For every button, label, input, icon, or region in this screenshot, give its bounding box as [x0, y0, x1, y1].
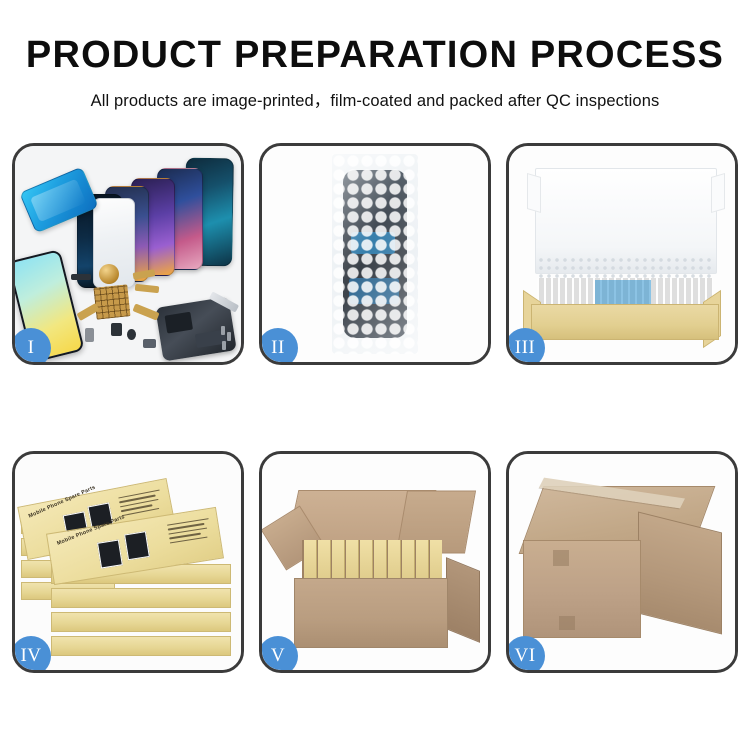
step-badge-1: I — [12, 328, 51, 365]
step-badge-6: VI — [506, 636, 545, 673]
speaker-coil-part — [99, 264, 119, 284]
step-badge-2: II — [259, 328, 298, 365]
page-title: PRODUCT PREPARATION PROCESS — [0, 0, 750, 76]
flex-cable-part — [132, 303, 159, 320]
box-front-panel — [531, 304, 719, 340]
header: PRODUCT PREPARATION PROCESS All products… — [0, 0, 750, 111]
small-component-part — [143, 339, 156, 348]
small-component-part — [71, 274, 91, 280]
stacked-box-edge — [51, 612, 231, 632]
carton-side-panel — [446, 557, 480, 643]
carton-side-panel — [638, 512, 722, 635]
bubble-wrap-sleeve — [332, 154, 418, 354]
process-step-grid: I II III — [12, 143, 738, 673]
step-1-image-products — [15, 146, 241, 362]
process-step-panel-1: I — [12, 143, 244, 365]
flex-cable-part — [135, 284, 160, 293]
step-2-image-bubble-wrap — [262, 146, 488, 362]
step-5-image-open-carton — [262, 454, 488, 670]
screws-group — [221, 326, 235, 352]
carton-front-panel — [294, 578, 448, 648]
carton-corner-tab — [559, 616, 575, 630]
box-print-label: Mobile Phone Spare Parts — [28, 485, 97, 520]
step-badge-5: V — [259, 636, 298, 673]
plastic-sheen — [332, 154, 418, 354]
small-component-part — [85, 328, 94, 342]
box-stack: Mobile Phone Spare Parts Mobile Phone Sp… — [15, 454, 241, 670]
carton-corner-tab — [553, 550, 569, 566]
step-badge-4: IV — [12, 636, 51, 673]
process-step-panel-2: II — [259, 143, 491, 365]
step-badge-3: III — [506, 328, 545, 365]
chip-grid-part — [93, 284, 130, 319]
small-component-part — [111, 323, 122, 336]
page-subtitle: All products are image-printed，film-coat… — [0, 76, 750, 111]
box-print-spec-lines — [167, 518, 213, 550]
process-step-panel-5: V — [259, 451, 491, 673]
step-3-image-inner-box — [509, 146, 735, 362]
carton-front-panel — [523, 540, 641, 638]
stacked-box-edge — [51, 588, 231, 608]
small-component-part — [127, 329, 136, 340]
process-step-panel-6: VI — [506, 451, 738, 673]
process-step-panel-4: Mobile Phone Spare Parts Mobile Phone Sp… — [12, 451, 244, 673]
step-4-image-printed-boxes: Mobile Phone Spare Parts Mobile Phone Sp… — [15, 454, 241, 670]
box-print-screen-image — [124, 531, 150, 560]
stacked-box-edge — [51, 636, 231, 656]
step-6-image-sealed-carton — [509, 454, 735, 670]
process-step-panel-3: III — [506, 143, 738, 365]
box-print-screen-image — [97, 539, 123, 568]
